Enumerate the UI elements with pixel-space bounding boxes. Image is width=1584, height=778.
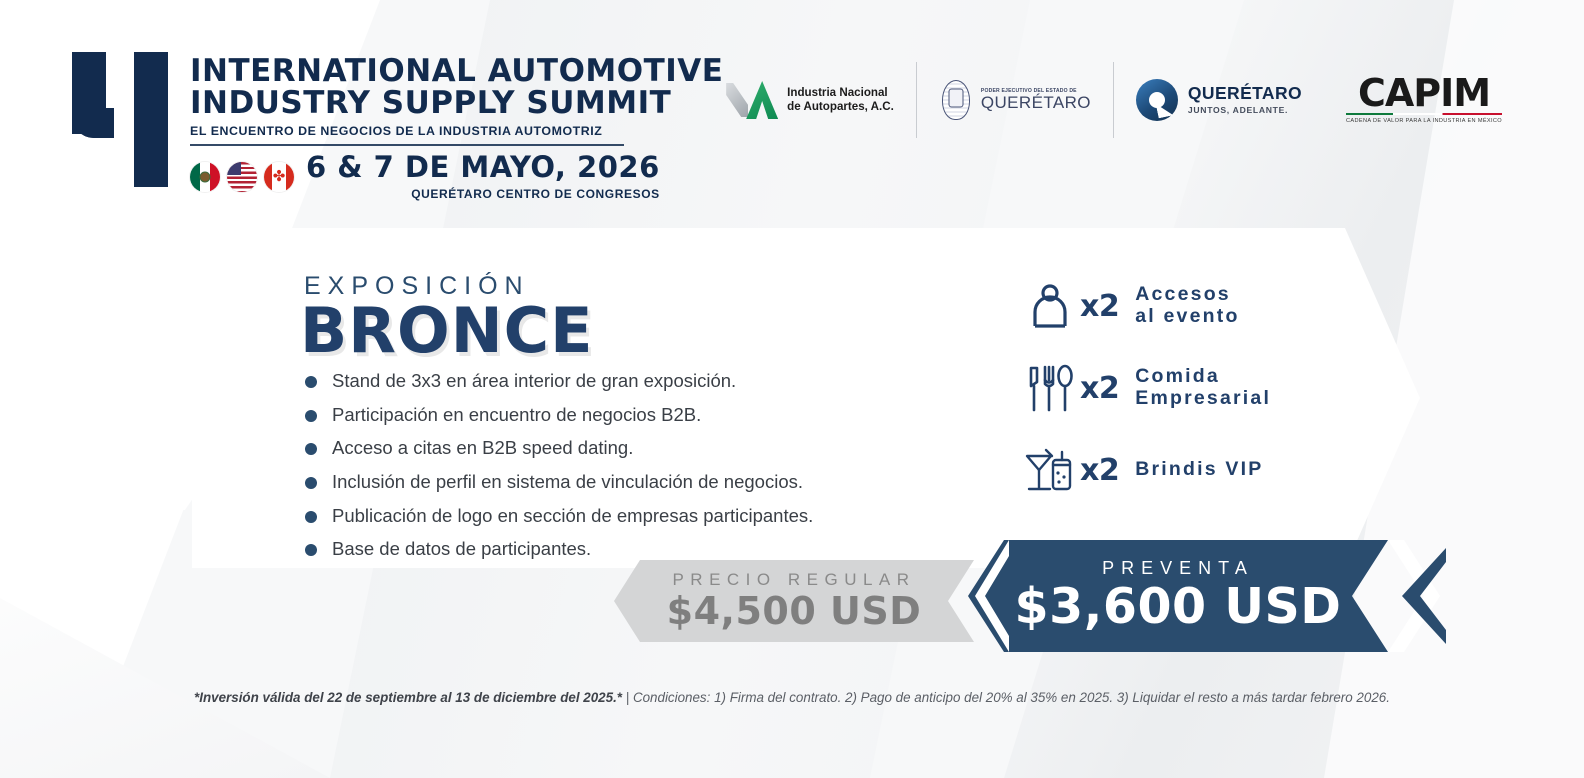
queretaro-q-logo-icon xyxy=(1136,79,1178,121)
benefit-text: Acceso a citas en B2B speed dating. xyxy=(332,437,633,459)
list-item: Stand de 3x3 en área interior de gran ex… xyxy=(305,370,813,392)
queretaro-brand-tagline: JUNTOS, ADELANTE. xyxy=(1188,105,1302,115)
benefit-text: Inclusión de perfil en sistema de vincul… xyxy=(332,471,803,493)
perk-label-line2: al evento xyxy=(1135,306,1239,328)
perk-quantity: x2 xyxy=(1080,453,1119,488)
benefit-text: Stand de 3x3 en área interior de gran ex… xyxy=(332,370,736,392)
bullet-icon xyxy=(305,410,317,422)
ina-name-line2: de Autopartes, A.C. xyxy=(787,100,894,114)
perk-label: Comida Empresarial xyxy=(1135,366,1271,410)
capim-tagline: CADENA DE VALOR PARA LA INDUSTRIA EN MÉX… xyxy=(1346,118,1502,124)
sale-banner-right-chevron xyxy=(1388,540,1440,652)
regular-price-banner: PRECIO REGULAR $4,500 USD xyxy=(614,560,974,642)
event-date-row: 6 & 7 DE MAYO, 2026 QUERÉTARO CENTRO DE … xyxy=(190,153,723,201)
perk-quantity: x2 xyxy=(1080,371,1119,406)
numeral-4-icon xyxy=(72,52,176,187)
bullet-icon xyxy=(305,511,317,523)
perk-comida: x2 Comida Empresarial xyxy=(1022,360,1271,416)
country-flags xyxy=(190,162,294,192)
mexico-flag-icon xyxy=(190,162,220,192)
queretaro-brand-name: QUERÉTARO xyxy=(1188,85,1302,103)
drinks-icon xyxy=(1022,442,1078,498)
cutlery-icon xyxy=(1022,360,1078,416)
regular-price-value: $4,500 USD xyxy=(667,591,922,633)
perk-quantity: x2 xyxy=(1080,289,1119,324)
list-item: Publicación de logo en sección de empres… xyxy=(305,505,813,527)
event-venue: QUERÉTARO CENTRO DE CONGRESOS xyxy=(306,187,660,201)
sponsor-ina: Industria Nacional de Autopartes, A.C. xyxy=(704,62,916,138)
header: INTERNATIONAL AUTOMOTIVE INDUSTRY SUPPLY… xyxy=(0,0,1584,210)
footer-separator: | xyxy=(622,690,633,705)
capim-logo: CAPIM CADENA DE VALOR PARA LA INDUSTRIA … xyxy=(1346,76,1502,125)
tier-title: BRONCE xyxy=(300,298,593,363)
bullet-icon xyxy=(305,376,317,388)
sponsor-queretaro-juntos-adelante: QUERÉTARO JUNTOS, ADELANTE. xyxy=(1113,62,1324,138)
bullet-icon xyxy=(305,443,317,455)
footer-validity: *Inversión válida del 22 de septiembre a… xyxy=(194,690,622,705)
event-title-line1: INTERNATIONAL AUTOMOTIVE xyxy=(190,56,723,88)
sale-price-banner: PREVENTA $3,600 USD xyxy=(968,540,1388,652)
perk-label-line1: Accesos xyxy=(1135,284,1239,306)
benefits-list: Stand de 3x3 en área interior de gran ex… xyxy=(305,370,813,572)
benefit-text: Participación en encuentro de negocios B… xyxy=(332,404,701,426)
list-item: Participación en encuentro de negocios B… xyxy=(305,404,813,426)
perk-label-line1: Comida xyxy=(1135,366,1271,388)
regular-price-label: PRECIO REGULAR xyxy=(672,570,915,590)
bullet-icon xyxy=(305,544,317,556)
event-title-block: INTERNATIONAL AUTOMOTIVE INDUSTRY SUPPLY… xyxy=(190,52,723,201)
canada-flag-icon xyxy=(264,162,294,192)
perks-list: x2 Accesos al evento x2 Comida Empresari… xyxy=(1022,278,1271,524)
event-title-line2: INDUSTRY SUPPLY SUMMIT xyxy=(190,88,723,120)
queretaro-seal-icon xyxy=(939,78,973,122)
bullet-icon xyxy=(305,477,317,489)
benefit-text: Base de datos de participantes. xyxy=(332,538,591,560)
footer-conditions: *Inversión válida del 22 de septiembre a… xyxy=(0,690,1584,705)
sponsor-capim: CAPIM CADENA DE VALOR PARA LA INDUSTRIA … xyxy=(1324,62,1524,138)
ina-logo-icon xyxy=(726,80,778,120)
ina-name-line1: Industria Nacional xyxy=(787,86,894,100)
perk-accesos: x2 Accesos al evento xyxy=(1022,278,1271,334)
ina-logo-text: Industria Nacional de Autopartes, A.C. xyxy=(787,86,894,115)
sale-price-value: $3,600 USD xyxy=(1015,581,1342,634)
poder-ejecutivo-large-text: QUERÉTARO xyxy=(981,94,1091,112)
perk-label-line1: Brindis VIP xyxy=(1135,459,1263,481)
perk-brindis: x2 Brindis VIP xyxy=(1022,442,1271,498)
benefit-text: Publicación de logo en sección de empres… xyxy=(332,505,813,527)
sale-price-label: PREVENTA xyxy=(1102,558,1254,579)
sponsor-poder-ejecutivo-queretaro: PODER EJECUTIVO DEL ESTADO DE QUERÉTARO xyxy=(916,62,1113,138)
list-item: Acceso a citas en B2B speed dating. xyxy=(305,437,813,459)
event-subtitle: EL ENCUENTRO DE NEGOCIOS DE LA INDUSTRIA… xyxy=(190,124,723,138)
person-icon xyxy=(1022,278,1078,334)
event-logo: INTERNATIONAL AUTOMOTIVE INDUSTRY SUPPLY… xyxy=(72,52,723,201)
perk-label: Accesos al evento xyxy=(1135,284,1239,328)
sponsor-logos: Industria Nacional de Autopartes, A.C. P… xyxy=(704,62,1524,138)
footer-terms: Condiciones: 1) Firma del contrato. 2) P… xyxy=(633,690,1390,705)
usa-flag-icon xyxy=(227,162,257,192)
capim-wordmark: CAPIM xyxy=(1346,76,1502,111)
event-date: 6 & 7 DE MAYO, 2026 xyxy=(306,153,660,182)
perk-label: Brindis VIP xyxy=(1135,459,1263,481)
perk-label-line2: Empresarial xyxy=(1135,388,1271,410)
list-item: Base de datos de participantes. xyxy=(305,538,813,560)
list-item: Inclusión de perfil en sistema de vincul… xyxy=(305,471,813,493)
title-divider xyxy=(190,144,624,146)
